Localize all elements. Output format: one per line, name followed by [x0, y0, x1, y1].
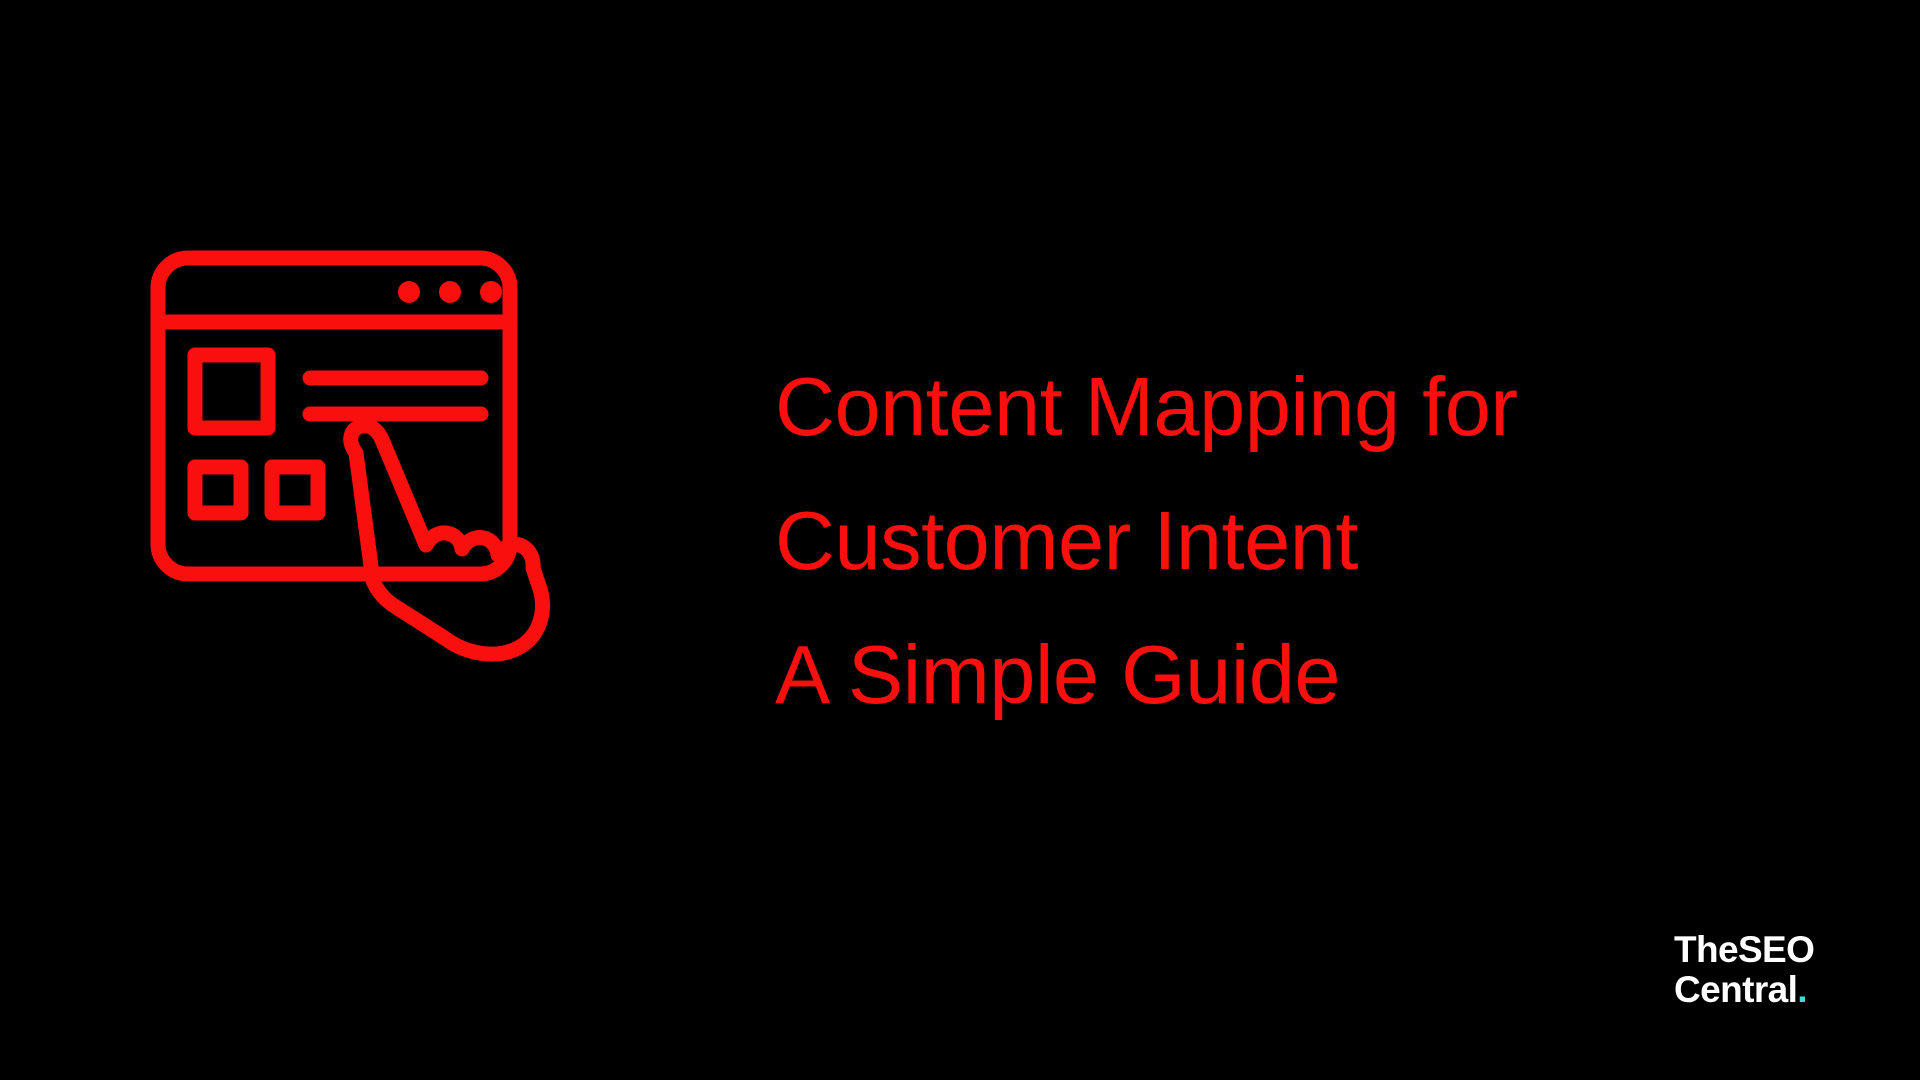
browser-dot-2 [439, 281, 461, 303]
headline-line-1: Content Mapping for [775, 340, 1835, 474]
thumbnail-placeholder-square [195, 355, 268, 428]
small-square-1 [195, 467, 241, 513]
brand-logo-word: Central [1674, 969, 1797, 1010]
brand-logo: TheSEO Central. [1674, 930, 1814, 1010]
brand-logo-line-2: Central. [1674, 970, 1814, 1010]
brand-logo-line-1: TheSEO [1674, 930, 1814, 970]
browser-window-with-pointing-hand-icon [150, 250, 710, 680]
browser-dot-1 [398, 281, 420, 303]
slide-canvas: Content Mapping for Customer Intent A Si… [0, 0, 1920, 1080]
browser-dot-3 [480, 281, 502, 303]
brand-logo-dot: . [1797, 969, 1807, 1010]
headline-block: Content Mapping for Customer Intent A Si… [775, 340, 1835, 742]
headline-line-3: A Simple Guide [775, 608, 1835, 742]
small-square-2 [272, 467, 318, 513]
headline-line-2: Customer Intent [775, 474, 1835, 608]
